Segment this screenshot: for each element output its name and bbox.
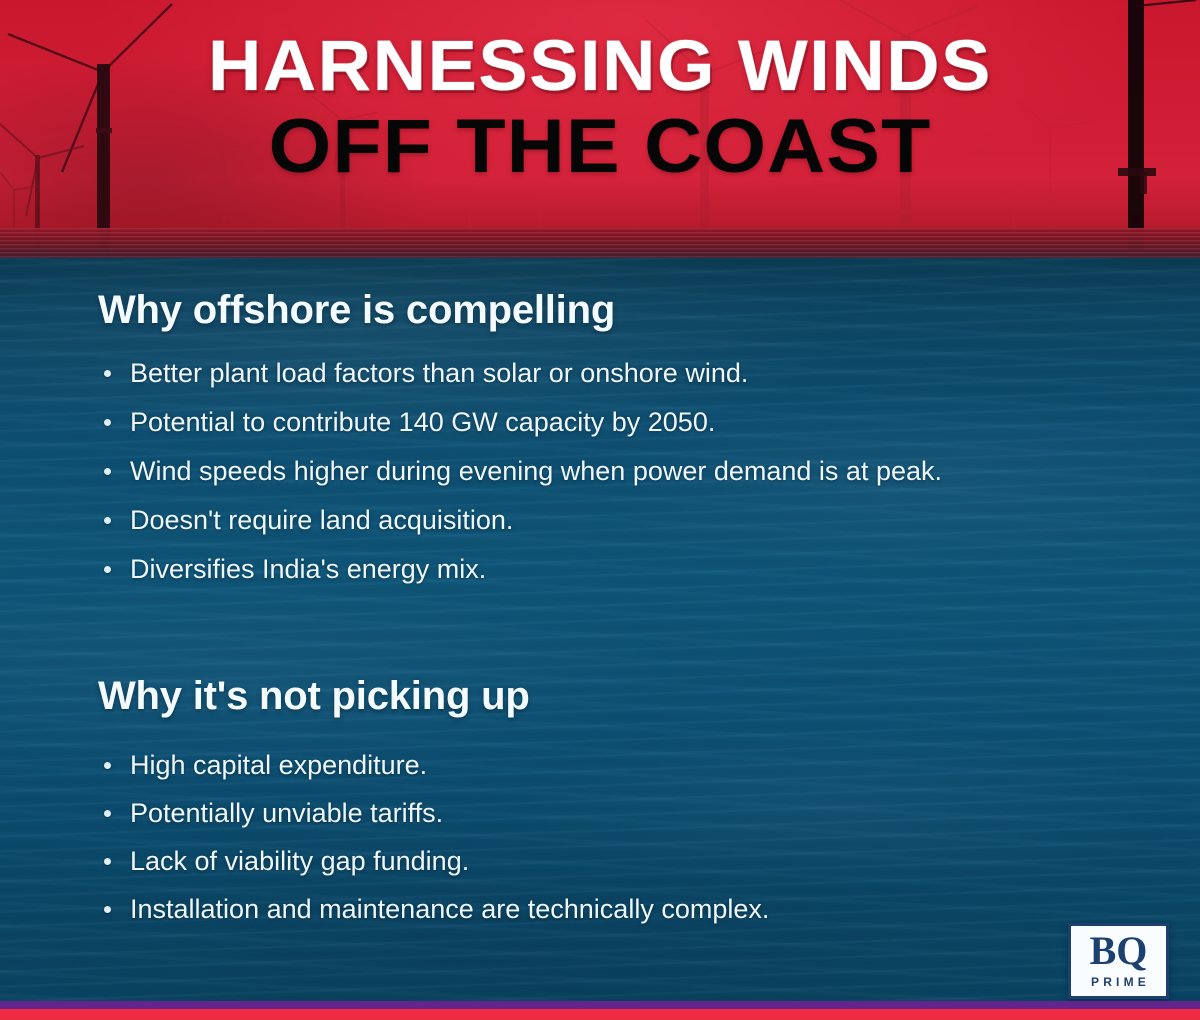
bullet-dot-icon xyxy=(104,566,111,573)
infographic-poster: HARNESSING WINDS OFF THE COAST Why offsh… xyxy=(0,0,1200,1020)
list-item-text: Potentially unviable tariffs. xyxy=(130,798,443,828)
bullet-dot-icon xyxy=(104,810,111,817)
horizon-sea-strip xyxy=(0,228,1200,258)
logo-prime-wordmark: PRIME xyxy=(1087,975,1150,989)
title-line-one: HARNESSING WINDS xyxy=(0,30,1200,104)
bullet-dot-icon xyxy=(104,468,111,475)
list-item-text: Wind speeds higher during evening when p… xyxy=(130,456,942,486)
list-item: Installation and maintenance are technic… xyxy=(98,892,1200,926)
bullet-dot-icon xyxy=(104,906,111,913)
section-heading-not-picking-up: Why it's not picking up xyxy=(0,672,1200,720)
list-item: Diversifies India's energy mix. xyxy=(98,552,1200,586)
section-why-compelling: Why offshore is compelling Better plant … xyxy=(0,286,1200,601)
list-item-text: Doesn't require land acquisition. xyxy=(130,505,513,535)
list-item: Doesn't require land acquisition. xyxy=(98,503,1200,537)
bullet-dot-icon xyxy=(104,762,111,769)
list-item: Potential to contribute 140 GW capacity … xyxy=(98,405,1200,439)
list-item-text: Better plant load factors than solar or … xyxy=(130,358,748,388)
list-item-text: Installation and maintenance are technic… xyxy=(130,894,769,924)
list-item-text: High capital expenditure. xyxy=(130,750,427,780)
bullet-dot-icon xyxy=(104,517,111,524)
section-heading-compelling: Why offshore is compelling xyxy=(0,286,1200,334)
list-item: Better plant load factors than solar or … xyxy=(98,356,1200,390)
bq-prime-logo: BQ PRIME xyxy=(1068,923,1169,999)
poster-title: HARNESSING WINDS OFF THE COAST xyxy=(0,30,1200,186)
list-item: Wind speeds higher during evening when p… xyxy=(98,454,1200,488)
list-item-text: Lack of viability gap funding. xyxy=(130,846,469,876)
logo-bq-mark: BQ xyxy=(1090,931,1148,971)
bullet-dot-icon xyxy=(104,419,111,426)
bullet-list-compelling: Better plant load factors than solar or … xyxy=(0,356,1200,586)
list-item: Potentially unviable tariffs. xyxy=(98,796,1200,830)
list-item: Lack of viability gap funding. xyxy=(98,844,1200,878)
section-why-not-picking-up: Why it's not picking up High capital exp… xyxy=(0,672,1200,940)
bullet-dot-icon xyxy=(104,370,111,377)
list-item-text: Diversifies India's energy mix. xyxy=(130,554,486,584)
title-line-two: OFF THE COAST xyxy=(0,108,1200,186)
bullet-list-not-picking-up: High capital expenditure. Potentially un… xyxy=(0,748,1200,926)
footer-stripe-red xyxy=(0,1009,1200,1020)
footer-stripe-purple xyxy=(0,1001,1200,1009)
list-item: High capital expenditure. xyxy=(98,748,1200,782)
bullet-dot-icon xyxy=(104,858,111,865)
list-item-text: Potential to contribute 140 GW capacity … xyxy=(130,407,715,437)
